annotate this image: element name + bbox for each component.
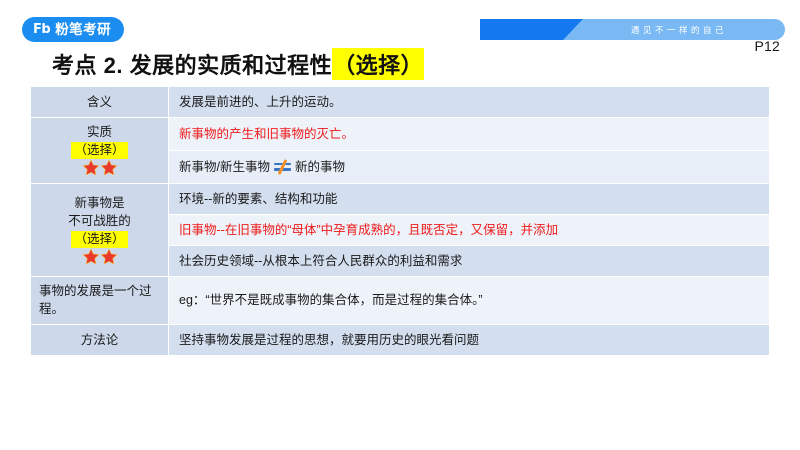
row-label-cell: 方法论 [31, 324, 169, 355]
row-value-cell: 旧事物--在旧事物的“母体”中孕育成熟的，且既否定，又保留，并添加 [169, 215, 770, 246]
row-label-text: 实质 [35, 123, 164, 141]
table-row: 新事物是不可战胜的（选择）环境--新的要素、结构和功能 [31, 183, 770, 214]
row-label-cell: 新事物是不可战胜的（选择） [31, 183, 169, 276]
row-value-text: 旧事物--在旧事物的“母体”中孕育成熟的，且既否定，又保留，并添加 [179, 223, 558, 237]
fenbi-logo-icon: Fb [33, 23, 50, 36]
row-label-cell: 事物的发展是一个过程。 [31, 277, 169, 324]
star-icon [83, 249, 99, 267]
row-value-text: 环境--新的要素、结构和功能 [179, 192, 337, 206]
row-value-text: 新事物/新生事物新的事物 [179, 160, 345, 174]
row-value-text: eg：“世界不是既成事物的集合体，而是过程的集合体。” [179, 293, 482, 307]
row-value-cell: eg：“世界不是既成事物的集合体，而是过程的集合体。” [169, 277, 770, 324]
row-value-text: 社会历史领域--从根本上符合人民群众的利益和需求 [179, 254, 462, 268]
table-row: 实质（选择）新事物的产生和旧事物的灭亡。 [31, 118, 770, 151]
row-label-tag: （选择） [35, 141, 164, 159]
page-title-main: 考点 2. 发展的实质和过程性 [52, 48, 332, 80]
row-label-text: 方法论 [35, 331, 164, 349]
row-label-tag: （选择） [35, 230, 164, 248]
row-label-cell: 实质（选择） [31, 118, 169, 184]
content-table: 含义发展是前进的、上升的运动。实质（选择）新事物的产生和旧事物的灭亡。新事物/新… [30, 86, 770, 356]
star-icon [101, 160, 117, 178]
row-label-text: 事物的发展是一个过程。 [39, 282, 164, 318]
row-value-cell: 发展是前进的、上升的运动。 [169, 87, 770, 118]
row-value-cell: 环境--新的要素、结构和功能 [169, 183, 770, 214]
page-number: P12 [754, 38, 780, 54]
row-star-rating [35, 249, 164, 267]
header-tagline: 遇见不一样的自己 [621, 24, 727, 36]
row-value-cell: 新事物的产生和旧事物的灭亡。 [169, 118, 770, 151]
row-value-cell: 新事物/新生事物新的事物 [169, 151, 770, 184]
row-label-text: 新事物是不可战胜的 [35, 194, 164, 230]
row-star-rating [35, 160, 164, 178]
row-label-text: 含义 [35, 93, 164, 111]
page-title-highlight: （选择） [332, 48, 424, 80]
row-value-cell: 坚持事物发展是过程的思想，就要用历史的眼光看问题 [169, 324, 770, 355]
row-value-text: 坚持事物发展是过程的思想，就要用历史的眼光看问题 [179, 333, 479, 347]
page-title: 考点 2. 发展的实质和过程性 （选择） [52, 48, 424, 80]
brand-logo: Fb 粉笔考研 [22, 17, 124, 42]
table-row: 事物的发展是一个过程。eg：“世界不是既成事物的集合体，而是过程的集合体。” [31, 277, 770, 324]
star-icon [101, 249, 117, 267]
header-band-light: 遇见不一样的自己 [563, 19, 785, 40]
table-row: 方法论坚持事物发展是过程的思想，就要用历史的眼光看问题 [31, 324, 770, 355]
row-label-cell: 含义 [31, 87, 169, 118]
star-icon [83, 160, 99, 178]
table-row: 含义发展是前进的、上升的运动。 [31, 87, 770, 118]
brand-name: 粉笔考研 [55, 23, 111, 37]
row-value-text: 新事物的产生和旧事物的灭亡。 [179, 127, 354, 141]
not-equal-icon [274, 160, 291, 173]
row-value-cell: 社会历史领域--从根本上符合人民群众的利益和需求 [169, 246, 770, 277]
row-value-text: 发展是前进的、上升的运动。 [179, 95, 342, 109]
slide-page: Fb 粉笔考研 遇见不一样的自己 P12 考点 2. 发展的实质和过程性 （选择… [0, 0, 800, 450]
page-header: Fb 粉笔考研 遇见不一样的自己 [0, 0, 800, 46]
